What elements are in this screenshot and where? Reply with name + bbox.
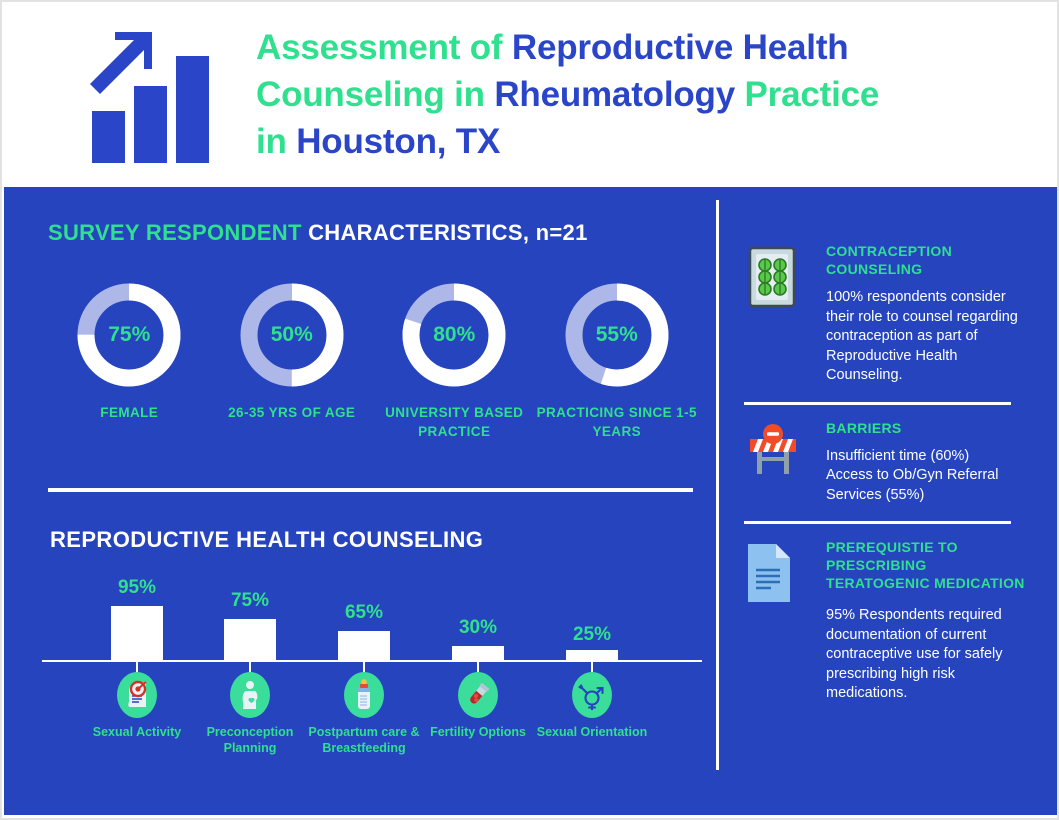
bar-value-label: 25% bbox=[535, 624, 649, 646]
bar-value-label: 30% bbox=[421, 617, 535, 639]
pregnant-person-heart-icon bbox=[230, 672, 270, 718]
counseling-section-heading: REPRODUCTIVE HEALTH COUNSELING bbox=[50, 527, 483, 553]
column-divider bbox=[716, 200, 719, 770]
document-page-icon bbox=[744, 538, 814, 609]
header-banner: Assessment of Reproductive Health Counse… bbox=[4, 4, 1057, 187]
panel-body: Insufficient time (60%) Access to Ob/Gyn… bbox=[826, 447, 1034, 506]
panel-body: 100% respondents consider their role to … bbox=[826, 288, 1034, 386]
donut-label: PRACTICING SINCE 1-5 YEARS bbox=[536, 403, 699, 441]
bar-value-label: 95% bbox=[80, 577, 194, 599]
title-line-3: in Houston, TX bbox=[256, 118, 996, 165]
donut-cell: 50% 26-35 YRS OF AGE bbox=[211, 280, 374, 470]
donut-value: 80% bbox=[399, 280, 509, 390]
donut-chart-university: 80% bbox=[399, 280, 509, 390]
title-line-2: Counseling in Rheumatology Practice bbox=[256, 71, 996, 118]
panel-title: PREREQUISTIE TO PRESCRIBING TERATOGENIC … bbox=[826, 538, 1034, 592]
donut-chart-group: 75% FEMALE 50% 26-35 YRS OF AGE bbox=[48, 280, 698, 470]
panel-title: CONTRACEPTION COUNSELING bbox=[826, 242, 1034, 278]
infographic-page: Assessment of Reproductive Health Counse… bbox=[0, 0, 1059, 820]
donut-cell: 55% PRACTICING SINCE 1-5 YEARS bbox=[536, 280, 699, 470]
donut-chart-age: 50% bbox=[237, 280, 347, 390]
section-divider bbox=[48, 488, 693, 492]
bar-rect bbox=[452, 646, 504, 660]
road-barrier-icon bbox=[744, 419, 814, 484]
bar-chart: 95% Sexual Activity 75% Preconception Pl… bbox=[42, 572, 702, 802]
axis-tick bbox=[363, 662, 365, 672]
panel-title: BARRIERS bbox=[826, 419, 1034, 437]
bar-rect bbox=[566, 650, 618, 660]
title-seg-green: Assessment of bbox=[256, 28, 512, 67]
panel-divider bbox=[744, 521, 1011, 524]
page-title: Assessment of Reproductive Health Counse… bbox=[256, 24, 996, 165]
contraceptive-pill-pack-icon bbox=[744, 242, 814, 313]
panel-body: 95% Respondents required documentation o… bbox=[826, 606, 1034, 704]
bar-category-label: Sexual Activity bbox=[78, 724, 196, 740]
title-line-1: Assessment of Reproductive Health bbox=[256, 24, 996, 71]
donut-value: 55% bbox=[562, 280, 672, 390]
donut-value: 75% bbox=[74, 280, 184, 390]
title-seg-blue: Houston, TX bbox=[296, 122, 500, 161]
title-seg-green: in bbox=[256, 122, 296, 161]
chart-axis-line bbox=[42, 660, 702, 662]
survey-heading-white: CHARACTERISTICS, n=21 bbox=[308, 220, 588, 245]
axis-tick bbox=[591, 662, 593, 672]
bar-category-label: Postpartum care & Breastfeeding bbox=[305, 724, 423, 756]
axis-tick bbox=[249, 662, 251, 672]
panel-barriers: BARRIERS Insufficient time (60%) Access … bbox=[744, 419, 1034, 525]
bar-rect bbox=[111, 606, 163, 660]
title-seg-blue: Rheumatology bbox=[494, 75, 744, 114]
donut-label: 26-35 YRS OF AGE bbox=[211, 403, 374, 422]
donut-label: UNIVERSITY BASED PRACTICE bbox=[373, 403, 536, 441]
donut-chart-female: 75% bbox=[74, 280, 184, 390]
baby-bottle-icon bbox=[344, 672, 384, 718]
bar-value-label: 75% bbox=[193, 590, 307, 612]
donut-cell: 80% UNIVERSITY BASED PRACTICE bbox=[373, 280, 536, 470]
bar-chart-growth-arrow-icon bbox=[82, 28, 217, 163]
survey-section-heading: SURVEY RESPONDENT CHARACTERISTICS, n=21 bbox=[48, 220, 698, 246]
donut-chart-practicing: 55% bbox=[562, 280, 672, 390]
survey-heading-green: SURVEY RESPONDENT bbox=[48, 220, 308, 245]
axis-tick bbox=[136, 662, 138, 672]
head-target-sexual-activity-icon bbox=[117, 672, 157, 718]
title-seg-green: Counseling in bbox=[256, 75, 494, 114]
bar-value-label: 65% bbox=[307, 602, 421, 624]
bar-category-label: Fertility Options bbox=[419, 724, 537, 740]
donut-label: FEMALE bbox=[48, 403, 211, 422]
bar-rect bbox=[224, 619, 276, 660]
panel-prerequisite-teratogenic: PREREQUISTIE TO PRESCRIBING TERATOGENIC … bbox=[744, 538, 1034, 704]
bar-category-label: Preconception Planning bbox=[191, 724, 309, 756]
title-seg-blue: Reproductive Health bbox=[512, 28, 849, 67]
bar-rect bbox=[338, 631, 390, 660]
axis-tick bbox=[477, 662, 479, 672]
panel-contraception-counseling: CONTRACEPTION COUNSELING 100% respondent… bbox=[744, 242, 1034, 405]
panel-divider bbox=[744, 402, 1011, 405]
donut-value: 50% bbox=[237, 280, 347, 390]
bar-category-label: Sexual Orientation bbox=[533, 724, 651, 740]
blood-test-tube-icon bbox=[458, 672, 498, 718]
right-column: CONTRACEPTION COUNSELING 100% respondent… bbox=[744, 242, 1034, 704]
donut-cell: 75% FEMALE bbox=[48, 280, 211, 470]
left-column: SURVEY RESPONDENT CHARACTERISTICS, n=21 … bbox=[48, 220, 698, 246]
gender-symbols-icon bbox=[572, 672, 612, 718]
title-seg-green: Practice bbox=[745, 75, 880, 114]
